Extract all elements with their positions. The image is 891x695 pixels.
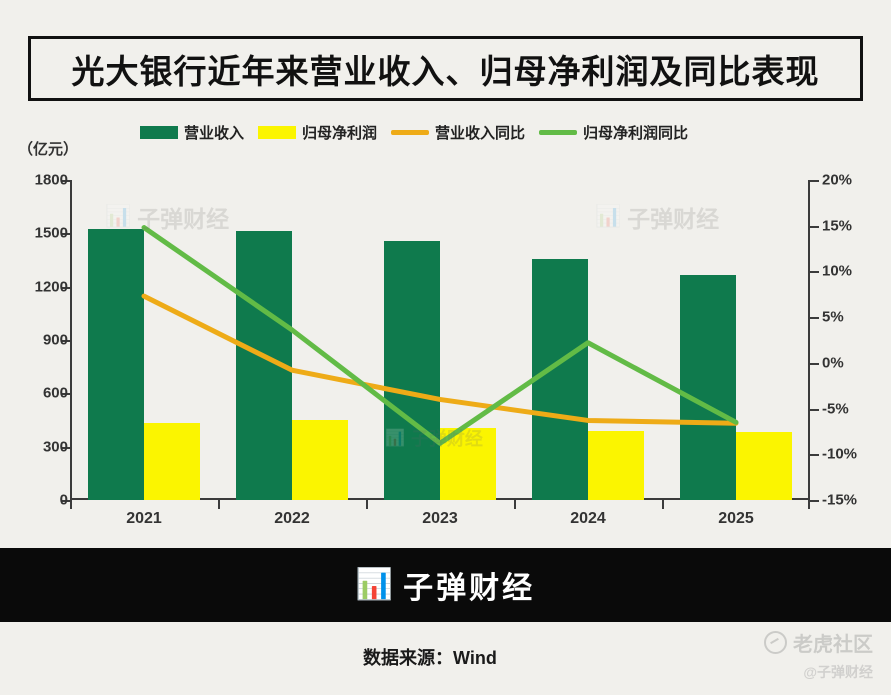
- y2-axis-tick: [810, 500, 819, 502]
- legend-item-4[interactable]: 归母净利润同比: [539, 122, 688, 143]
- legend-swatch-icon: [539, 130, 577, 135]
- data-source-label: 数据来源：Wind: [363, 644, 497, 670]
- corner-watermark: 老虎社区 @子弹财经: [764, 628, 873, 682]
- corner-brand-label: 老虎社区: [793, 628, 873, 657]
- y-axis-tick-label: 1800: [8, 172, 68, 189]
- y2-axis-tick: [810, 363, 819, 365]
- y-axis-tick-label: 1500: [8, 225, 68, 242]
- plot-area: 0300600900120015001800-15%-10%-5%0%5%10%…: [70, 180, 810, 500]
- y2-axis-tick-label: 5%: [822, 309, 884, 326]
- y2-axis-tick: [810, 409, 819, 411]
- y2-axis-tick-label: 10%: [822, 263, 884, 280]
- corner-handle-label: @子弹财经: [764, 662, 873, 682]
- x-axis-tick-label: 2023: [395, 510, 485, 528]
- y2-axis-tick: [810, 271, 819, 273]
- x-axis-tick-label: 2021: [99, 510, 189, 528]
- y2-axis-tick-label: -10%: [822, 446, 884, 463]
- y2-axis-tick-label: -15%: [822, 492, 884, 509]
- y2-axis-tick-label: 20%: [822, 172, 884, 189]
- x-axis-tick: [514, 500, 516, 509]
- legend-item-1[interactable]: 营业收入: [140, 122, 244, 143]
- legend-label: 营业收入: [184, 122, 244, 143]
- y2-axis-tick: [810, 317, 819, 319]
- legend-label: 营业收入同比: [435, 122, 525, 143]
- x-axis-tick: [218, 500, 220, 509]
- legend-label: 归母净利润: [302, 122, 377, 143]
- x-axis-tick: [662, 500, 664, 509]
- line-netprofit-yoy[interactable]: [144, 228, 736, 444]
- legend-item-2[interactable]: 归母净利润: [258, 122, 377, 143]
- y2-axis-tick: [810, 454, 819, 456]
- legend-swatch-icon: [391, 130, 429, 135]
- y-axis-tick-label: 300: [8, 438, 68, 455]
- x-axis-tick-label: 2022: [247, 510, 337, 528]
- x-axis-tick: [808, 500, 810, 509]
- y2-axis-tick: [810, 226, 819, 228]
- y-axis-tick-label: 600: [8, 385, 68, 402]
- x-axis-tick: [366, 500, 368, 509]
- footer-brand-band: 📊 子弹财经: [0, 548, 891, 622]
- y2-axis-tick-label: 15%: [822, 217, 884, 234]
- y2-axis-tick: [810, 180, 819, 182]
- page-title: 光大银行近年来营业收入、归母净利润及同比表现: [72, 45, 820, 93]
- line-series-layer: [70, 180, 810, 500]
- line-revenue-yoy[interactable]: [144, 296, 736, 423]
- legend-swatch-icon: [258, 126, 296, 139]
- chart-title-box: 光大银行近年来营业收入、归母净利润及同比表现: [28, 36, 863, 101]
- y-axis-tick-label: 1200: [8, 278, 68, 295]
- y-axis-tick-label: 0: [8, 492, 68, 509]
- bullet-chart-icon: 📊: [356, 570, 393, 600]
- chart-page: 光大银行近年来营业收入、归母净利润及同比表现 营业收入归母净利润营业收入同比归母…: [0, 0, 891, 695]
- y-axis-tick-label: 900: [8, 332, 68, 349]
- chart-legend: 营业收入归母净利润营业收入同比归母净利润同比: [140, 122, 688, 143]
- legend-label: 归母净利润同比: [583, 122, 688, 143]
- y-axis-unit-label: （亿元）: [18, 138, 78, 159]
- x-axis-tick-label: 2024: [543, 510, 633, 528]
- x-axis-tick: [70, 500, 72, 509]
- y2-axis-tick-label: 0%: [822, 354, 884, 371]
- legend-item-3[interactable]: 营业收入同比: [391, 122, 525, 143]
- y2-axis-tick-label: -5%: [822, 400, 884, 417]
- legend-swatch-icon: [140, 126, 178, 139]
- x-axis-tick-label: 2025: [691, 510, 781, 528]
- brand-logo-text: 子弹财经: [403, 563, 535, 607]
- tiger-community-icon: [764, 631, 787, 654]
